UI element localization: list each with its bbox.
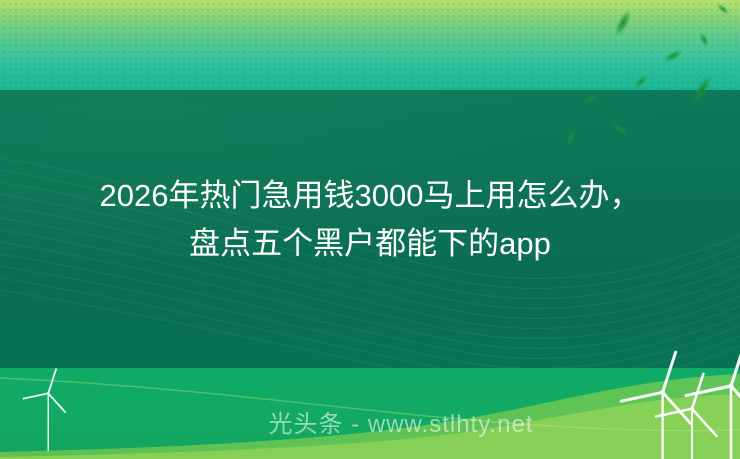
leaf-2-icon: [661, 47, 684, 64]
leaf-4-icon: [632, 72, 649, 90]
leaf-3-icon: [697, 31, 710, 48]
title-line-2: 盘点五个黑户都能下的app: [18, 220, 722, 268]
leaf-8-icon: [565, 128, 578, 147]
leaf-7-icon: [612, 122, 629, 136]
page-title: 2026年热门急用钱3000马上用怎么办， 盘点五个黑户都能下的app: [0, 172, 740, 268]
site-watermark: 光头条 - www.stlhty.net: [0, 404, 740, 439]
leaf-1-icon: [612, 7, 635, 38]
leaf-5-icon: [583, 94, 598, 104]
title-line-1: 2026年热门急用钱3000马上用怎么办，: [18, 172, 722, 220]
leaf-6-icon: [689, 73, 715, 106]
falling-leaves-group: [520, 0, 740, 190]
leaf-9-icon: [716, 2, 731, 16]
article-cover-poster: 2026年热门急用钱3000马上用怎么办， 盘点五个黑户都能下的app 光头条 …: [0, 0, 740, 459]
